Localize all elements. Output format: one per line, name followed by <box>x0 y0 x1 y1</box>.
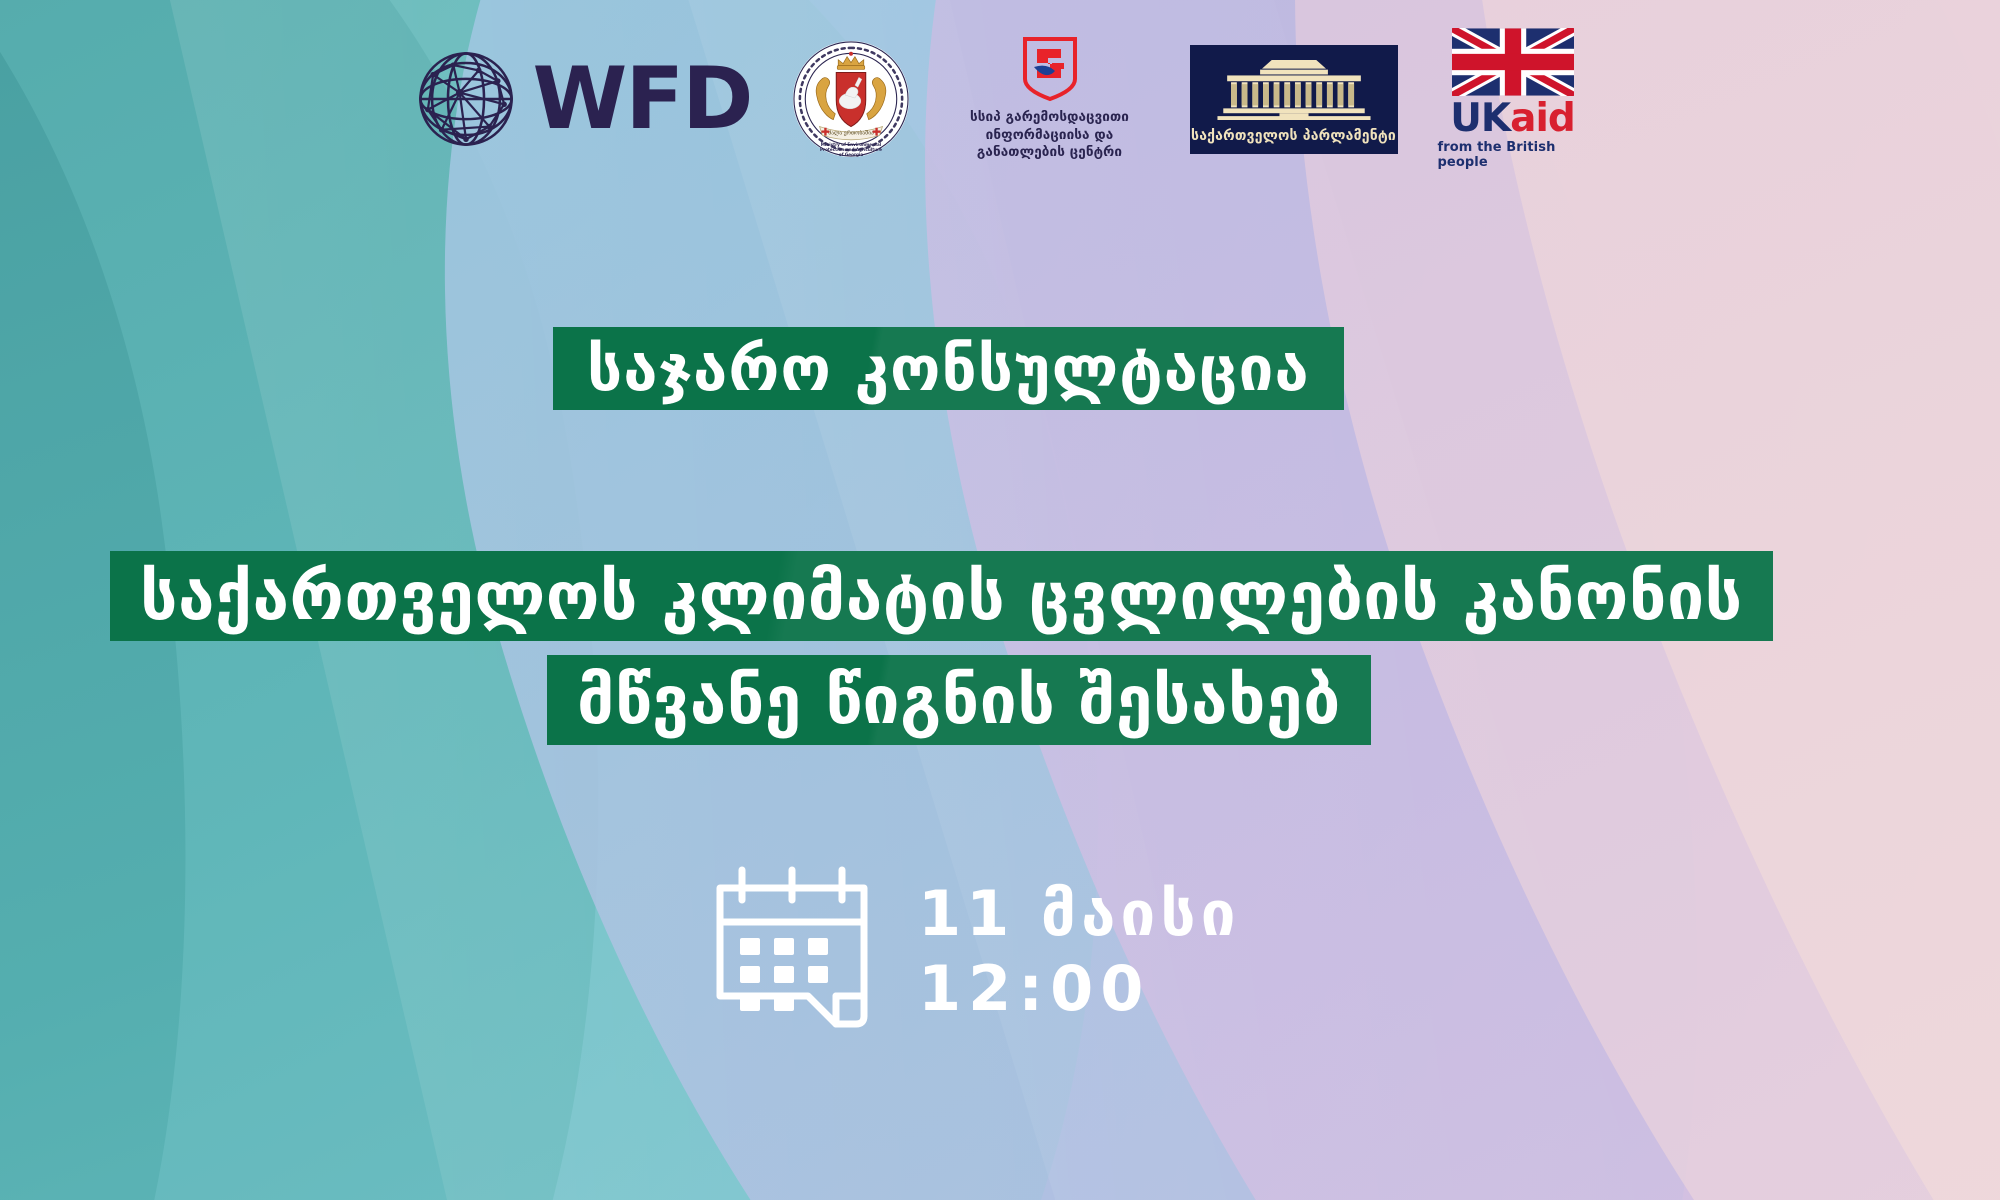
wfd-wordmark: WFD <box>533 56 752 142</box>
title-text-line2: მწვანე წიგნის შესახებ <box>577 662 1341 739</box>
event-date: 11 მაისი <box>918 879 1241 948</box>
svg-text:ძალა ერთობაშია: ძალა ერთობაშია <box>828 129 874 136</box>
eiec-label-line1: სსიპ გარემოსდაცვითი <box>970 109 1129 127</box>
svg-text:of Georgia: of Georgia <box>838 152 862 157</box>
eiec-label-line3: განათლების ცენტრი <box>970 144 1129 162</box>
parliament-building-icon <box>1211 58 1377 120</box>
eiec-shield-icon <box>1022 36 1078 102</box>
ukaid-tagline: from the British people <box>1438 140 1588 170</box>
poster-canvas: WFD <box>0 0 2000 1200</box>
globe-icon <box>413 46 519 152</box>
event-date-text: 11 მაისი 12:00 <box>918 879 1241 1024</box>
kicker-text: საჯარო კონსულტაცია <box>587 332 1310 405</box>
title-banner-line1: საქართველოს კლიმატის ცვლილების კანონის <box>110 551 1773 641</box>
logo-strip: WFD <box>0 28 2000 170</box>
logo-ministry-of-environment: ძალა ერთობაშია Ministry of Environmental… <box>792 40 910 158</box>
kicker-banner: საჯარო კონსულტაცია <box>553 327 1344 410</box>
logo-ukaid: UKaid from the British people <box>1438 28 1588 170</box>
ukaid-word-uk: UK <box>1450 96 1510 141</box>
union-jack-flag-icon <box>1452 28 1574 96</box>
ukaid-wordmark: UKaid <box>1450 99 1575 138</box>
ukaid-word-aid: aid <box>1510 96 1575 141</box>
eiec-label: სსიპ გარემოსდაცვითი ინფორმაციისა და განა… <box>970 109 1129 163</box>
title-text-line1: საქართველოს კლიმატის ცვლილების კანონის <box>140 558 1743 635</box>
georgia-coat-of-arms-icon: ძალა ერთობაშია Ministry of Environmental… <box>792 40 910 158</box>
event-date-block: 11 მაისი 12:00 <box>712 862 1241 1040</box>
logo-wfd: WFD <box>413 46 752 152</box>
logo-parliament-of-georgia: საქართველოს პარლამენტი <box>1190 45 1398 154</box>
event-time: 12:00 <box>918 954 1241 1023</box>
title-banner-line2: მწვანე წიგნის შესახებ <box>547 655 1371 745</box>
parliament-label: საქართველოს პარლამენტი <box>1191 128 1396 144</box>
eiec-label-line2: ინფორმაციისა და <box>970 127 1129 145</box>
logo-environmental-information-education-centre: სსიპ გარემოსდაცვითი ინფორმაციისა და განა… <box>950 36 1150 163</box>
calendar-icon <box>712 862 872 1040</box>
